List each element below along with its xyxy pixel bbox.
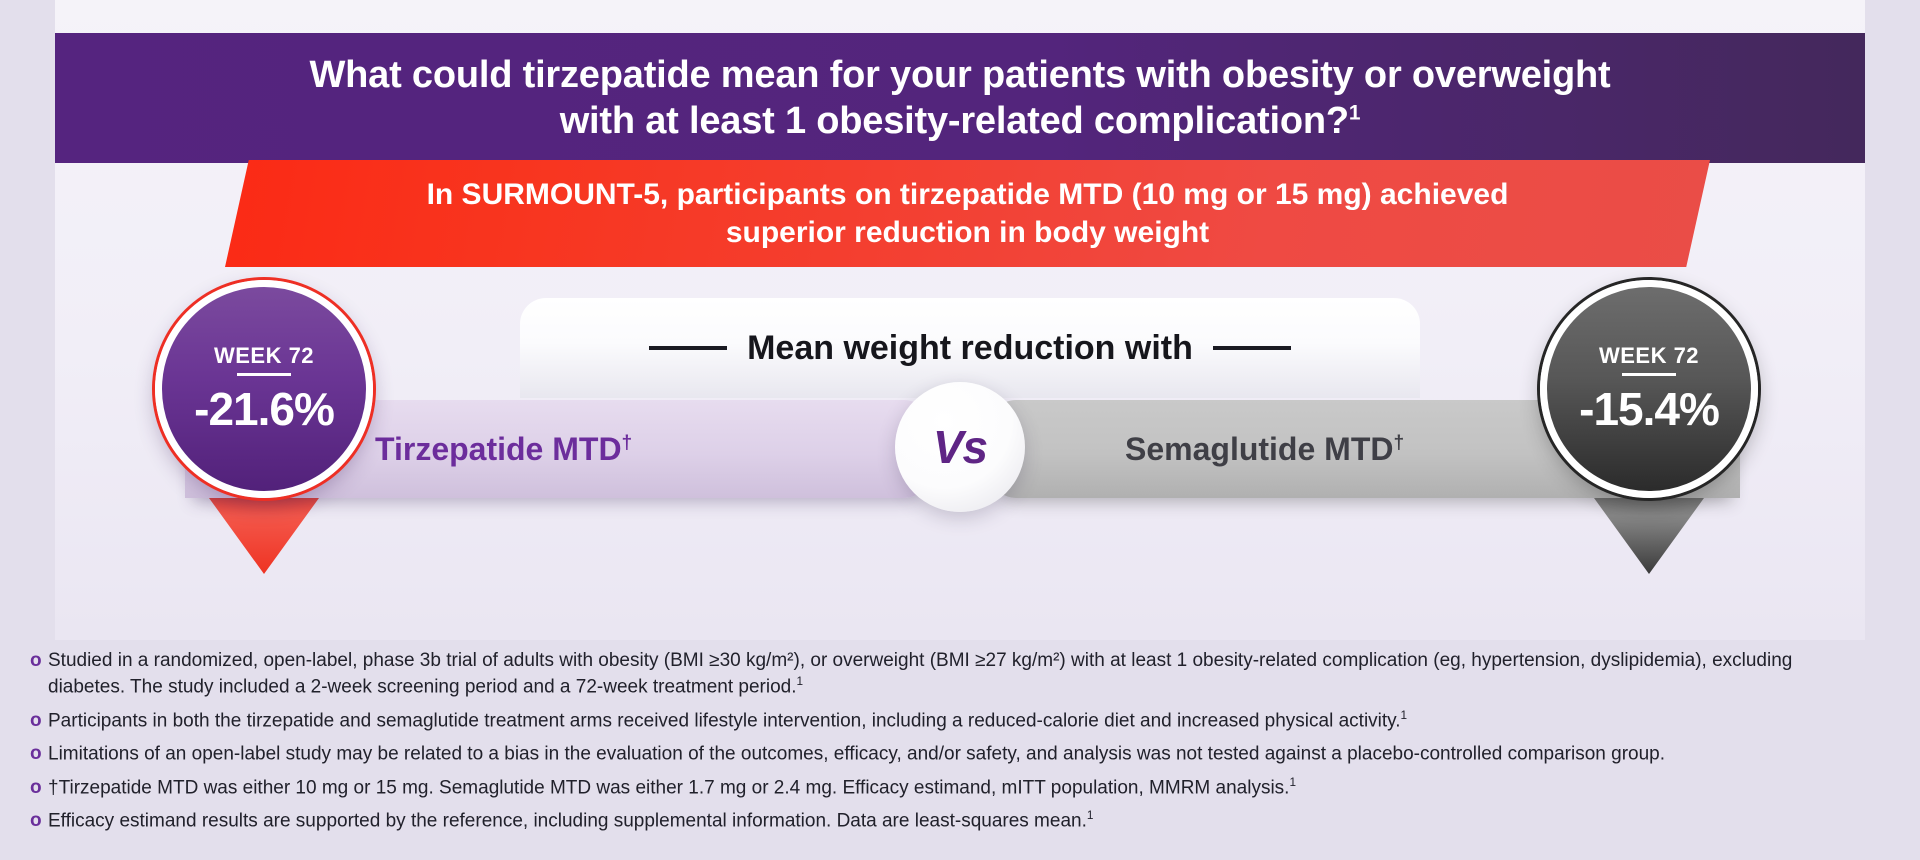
footnote-text-body: †Tirzepatide MTD was either 10 mg or 15 … [48, 777, 1289, 798]
footnote-text-body: Participants in both the tirzepatide and… [48, 710, 1401, 731]
footnote-reference-marker: 1 [1087, 809, 1094, 822]
result-badge-tirzepatide: WEEK 72 -21.6% [155, 280, 373, 498]
footnote-bullet-icon: o [22, 708, 48, 734]
footnote-list: o Studied in a randomized, open-label, p… [0, 648, 1920, 842]
footnote-reference-marker: 1 [1401, 709, 1408, 722]
badge-rule-decoration [237, 373, 291, 376]
headline-banner: What could tirzepatide mean for your pat… [55, 33, 1865, 163]
footnote-text: Efficacy estimand results are supported … [48, 808, 1898, 835]
footnote-text-body: Studied in a randomized, open-label, pha… [48, 650, 1792, 698]
subbanner-line-2: superior reduction in body weight [726, 216, 1209, 249]
infographic-page: What could tirzepatide mean for your pat… [0, 0, 1920, 860]
bar-semaglutide-label-text: Semaglutide MTD [1125, 431, 1393, 467]
result-badge-tirzepatide-value: -21.6% [194, 382, 334, 436]
footnote-text: Limitations of an open-label study may b… [48, 741, 1898, 768]
headline-line-1: What could tirzepatide mean for your pat… [310, 54, 1611, 96]
footnote-bullet-icon: o [22, 648, 48, 674]
rule-left-decoration [649, 346, 727, 350]
footnote-text-body: Limitations of an open-label study may b… [48, 744, 1665, 765]
result-badge-semaglutide-week: WEEK 72 [1599, 343, 1699, 369]
result-badge-semaglutide-circle: WEEK 72 -15.4% [1540, 280, 1758, 498]
footnote-text: Studied in a randomized, open-label, pha… [48, 648, 1898, 701]
result-badge-semaglutide-value: -15.4% [1579, 382, 1719, 436]
comparison-header-label: Mean weight reduction with [747, 329, 1193, 368]
footnote-text-body: Efficacy estimand results are supported … [48, 811, 1087, 832]
headline-text: What could tirzepatide mean for your pat… [110, 52, 1810, 145]
versus-circle: Vs [895, 382, 1025, 512]
footnote-item: o Efficacy estimand results are supporte… [22, 808, 1898, 835]
footnote-reference-marker: 1 [1289, 776, 1296, 789]
bar-tirzepatide-dagger: † [622, 432, 633, 453]
result-badge-tirzepatide-week: WEEK 72 [214, 343, 314, 369]
footnote-bullet-icon: o [22, 808, 48, 834]
subbanner: In SURMOUNT-5, participants on tirzepati… [225, 160, 1710, 267]
footnote-bullet-icon: o [22, 775, 48, 801]
footnote-text: †Tirzepatide MTD was either 10 mg or 15 … [48, 775, 1898, 802]
footnote-item: o Studied in a randomized, open-label, p… [22, 648, 1898, 701]
footnote-text: Participants in both the tirzepatide and… [48, 708, 1898, 735]
headline-line-2: with at least 1 obesity-related complica… [560, 100, 1349, 142]
bar-tirzepatide-label: Tirzepatide MTD† [375, 431, 632, 468]
footnote-item: o Participants in both the tirzepatide a… [22, 708, 1898, 735]
footnote-reference-marker: 1 [797, 675, 804, 688]
bar-semaglutide-dagger: † [1393, 432, 1404, 453]
badge-rule-decoration [1622, 373, 1676, 376]
versus-label: Vs [933, 420, 987, 474]
result-badge-semaglutide: WEEK 72 -15.4% [1540, 280, 1758, 498]
subbanner-line-1: In SURMOUNT-5, participants on tirzepati… [427, 178, 1509, 211]
bar-semaglutide-label: Semaglutide MTD† [1125, 431, 1404, 468]
subbanner-text: In SURMOUNT-5, participants on tirzepati… [278, 176, 1658, 251]
comparison-header-inner: Mean weight reduction with [649, 329, 1291, 368]
headline-reference-marker: 1 [1349, 101, 1360, 124]
bar-tirzepatide-label-text: Tirzepatide MTD [375, 431, 622, 467]
footnote-item: o Limitations of an open-label study may… [22, 741, 1898, 768]
footnote-item: o †Tirzepatide MTD was either 10 mg or 1… [22, 775, 1898, 802]
rule-right-decoration [1213, 346, 1291, 350]
footnote-bullet-icon: o [22, 741, 48, 767]
result-badge-tirzepatide-circle: WEEK 72 -21.6% [155, 280, 373, 498]
